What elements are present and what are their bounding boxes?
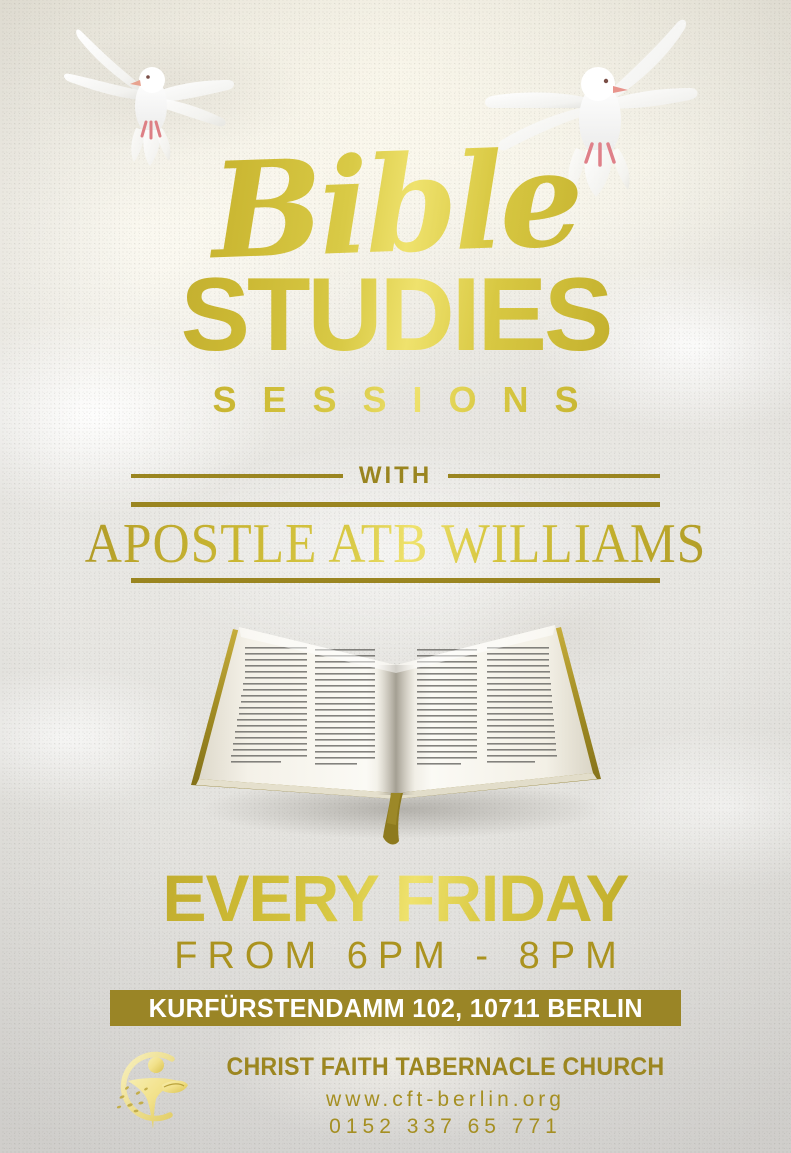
footer-text-group: CHRIST FAITH TABERNACLE CHURCH www.cft-b…	[210, 1045, 681, 1139]
speaker-name: APOSTLE ATB WILLIAMS	[32, 515, 760, 574]
event-time: FROM 6PM - 8PM	[0, 937, 791, 975]
poster-canvas: Bible STUDIES SESSIONS WITH APOSTLE ATB …	[0, 0, 791, 1153]
title-studies: STUDIES	[0, 263, 791, 367]
divider-rule-right	[448, 474, 660, 478]
event-day: EVERY FRIDAY	[0, 865, 791, 931]
title-sessions: SESSIONS	[0, 382, 791, 418]
church-phone[interactable]: 0152 337 65 771	[210, 1115, 681, 1139]
with-label: WITH	[359, 462, 432, 490]
divider-rule-left	[131, 474, 343, 478]
speaker-rule-top	[131, 502, 660, 507]
church-name: CHRIST FAITH TABERNACLE CHURCH	[227, 1053, 665, 1082]
open-bible-image	[163, 603, 629, 853]
address-banner: KURFÜRSTENDAMM 102, 10711 BERLIN	[110, 990, 681, 1026]
church-website[interactable]: www.cft-berlin.org	[210, 1088, 681, 1112]
footer: CHRIST FAITH TABERNACLE CHURCH www.cft-b…	[0, 1045, 791, 1139]
speaker-rule-bottom	[131, 578, 660, 583]
with-divider-row: WITH	[131, 462, 660, 490]
church-logo-icon	[110, 1045, 196, 1133]
address-text: KURFÜRSTENDAMM 102, 10711 BERLIN	[148, 993, 642, 1024]
